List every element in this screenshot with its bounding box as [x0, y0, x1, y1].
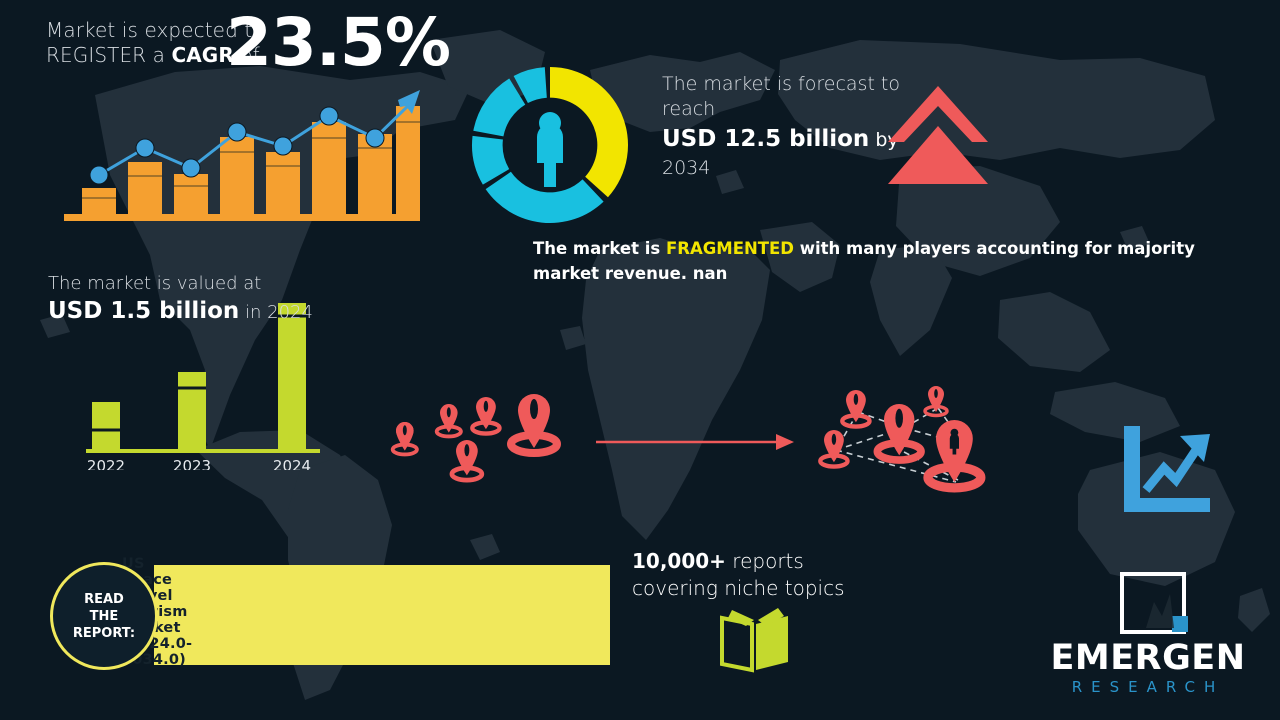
growth-bars	[82, 106, 420, 214]
read-the-report-badge[interactable]: READ THE REPORT:	[50, 562, 158, 670]
logo-brand-text: EMERGEN	[1038, 638, 1258, 678]
book-left-page	[722, 618, 752, 670]
xtick-2022: 2022	[87, 457, 125, 470]
forecast-value-text: USD 12.5 billion	[662, 126, 869, 152]
map-pin-person-icon	[452, 440, 482, 480]
forecast-line-1: The market is forecast to	[662, 72, 902, 97]
map-pin-person-icon	[820, 430, 847, 467]
infographic-root: Market is expected to REGISTER a CAGR of…	[0, 0, 1280, 720]
reports-subtitle: covering niche topics	[632, 575, 845, 602]
reports-count-word: reports	[726, 549, 804, 573]
badge-line-1: READ	[84, 592, 124, 607]
fragmentation-statement: The market is FRAGMENTED with many playe…	[533, 236, 1213, 286]
connected-market-pins	[806, 382, 1016, 504]
open-book-icon	[718, 608, 794, 674]
market-value-block: The market is valued at USD 1.5 billion …	[48, 272, 313, 328]
market-value-text: USD 1.5 billion	[48, 298, 239, 324]
map-pin-person-icon	[437, 404, 461, 436]
market-value-line-1: The market is valued at	[48, 272, 313, 296]
read-the-report-label: READ THE REPORT:	[73, 591, 135, 642]
map-pin-person-icon	[925, 386, 947, 416]
report-banner[interactable]	[154, 565, 610, 665]
map-pin-person-icon	[511, 394, 557, 453]
forecast-year: 2034	[662, 156, 902, 180]
fragmented-highlight: FRAGMENTED	[666, 239, 794, 258]
growth-baseline	[64, 214, 420, 221]
share-donut-chart	[455, 50, 645, 240]
badge-line-2: THE	[90, 609, 119, 624]
reports-count-block: 10,000+ reports covering niche topics	[632, 548, 845, 602]
growth-bar-line-chart	[60, 80, 420, 225]
logo-mark-icon	[1120, 572, 1192, 638]
market-value-year: in 2024	[239, 302, 313, 323]
map-pin-person-icon	[877, 404, 921, 460]
market-value-amount: USD 1.5 billion in 2024	[48, 296, 313, 328]
double-chevron-up-icon	[884, 82, 992, 187]
person-icon	[537, 112, 563, 187]
fragmented-pre: The market is	[533, 239, 666, 258]
cagr-keyword: CAGR	[171, 43, 233, 67]
cagr-line2-pre: REGISTER a	[46, 43, 171, 67]
cagr-value: 23.5%	[226, 10, 450, 76]
reports-count-line: 10,000+ reports	[632, 548, 845, 575]
bar-2022	[92, 402, 120, 449]
book-right-page	[756, 616, 788, 670]
xtick-2023: 2023	[173, 457, 211, 470]
line-chart-icon	[1118, 420, 1214, 518]
right-arrow-icon	[596, 428, 796, 456]
forecast-line-2: reach	[662, 97, 902, 122]
chart-icon-trend	[1146, 444, 1200, 490]
logo-sub-text: RESEARCH	[1038, 678, 1258, 696]
reports-count-number: 10,000+	[632, 549, 726, 573]
donut-slice-cyan-3	[473, 79, 525, 137]
xtick-2024: 2024	[273, 457, 311, 470]
map-pin-person-icon	[842, 390, 869, 427]
scattered-market-pins	[380, 382, 590, 492]
map-pin-person-icon	[928, 420, 981, 488]
emergen-research-logo: EMERGEN RESEARCH	[1038, 572, 1258, 706]
forecast-block: The market is forecast to reach USD 12.5…	[662, 72, 902, 180]
map-pin-person-icon	[393, 422, 417, 454]
forecast-value: USD 12.5 billion by	[662, 124, 902, 156]
map-pin-person-icon	[472, 397, 499, 434]
market-value-baseline	[86, 449, 320, 453]
badge-line-3: REPORT:	[73, 626, 135, 641]
bar-2023	[178, 372, 206, 449]
